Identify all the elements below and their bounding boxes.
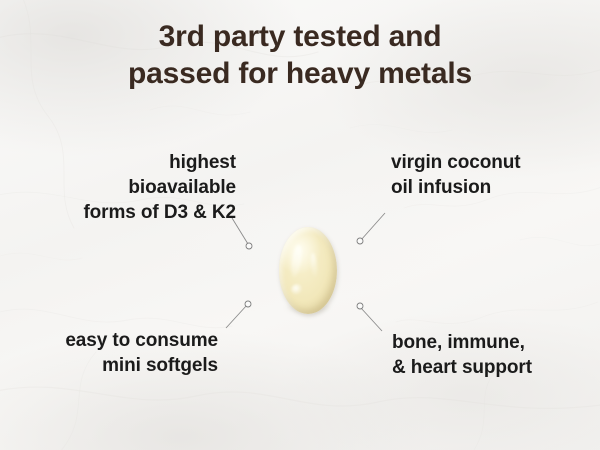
callout-tl-line-2: bioavailable [83,175,236,200]
softgel-capsule-image [279,227,337,314]
callout-tl-line-3: forms of D3 & K2 [83,200,236,225]
page-title: 3rd party tested and passed for heavy me… [0,18,600,92]
callout-tl-line-1: highest [83,150,236,175]
callout-bone-immune-heart: bone, immune, & heart support [392,330,532,380]
callout-bl-line-1: easy to consume [65,328,218,353]
softgel-highlight-secondary [310,253,318,277]
softgel-body [279,227,337,314]
callout-virgin-coconut-oil: virgin coconut oil infusion [391,150,521,200]
callout-br-line-1: bone, immune, [392,330,532,355]
callout-easy-to-consume: easy to consume mini softgels [65,328,218,378]
callout-tr-line-2: oil infusion [391,175,521,200]
softgel-highlight-primary [290,244,304,277]
product-feature-infographic: 3rd party tested and passed for heavy me… [0,0,600,450]
callout-bl-line-2: mini softgels [65,353,218,378]
title-line-1: 3rd party tested and [0,18,600,55]
callout-br-line-2: & heart support [392,355,532,380]
softgel-highlight-spot [291,284,303,295]
callout-highest-bioavailable: highest bioavailable forms of D3 & K2 [83,150,236,225]
title-line-2: passed for heavy metals [0,55,600,92]
callout-tr-line-1: virgin coconut [391,150,521,175]
